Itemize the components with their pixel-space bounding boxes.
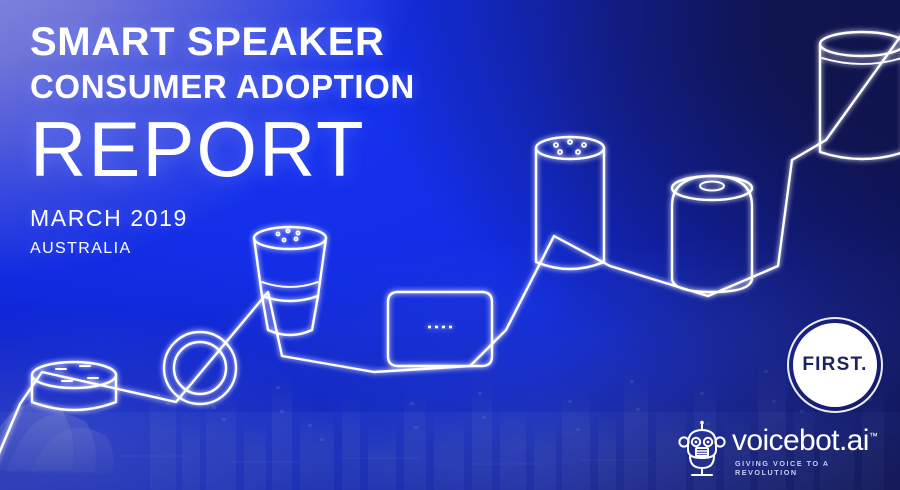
title-line-2: CONSUMER ADOPTION	[30, 70, 460, 103]
first-badge-disc: FIRST.	[793, 323, 877, 407]
title-line-1: SMART SPEAKER	[30, 22, 460, 62]
logo-trademark: ™	[869, 431, 878, 441]
report-date: MARCH 2019	[30, 205, 460, 232]
tall-cylinder-speaker	[820, 32, 900, 159]
first-badge-label: FIRST.	[802, 354, 867, 376]
title-block: SMART SPEAKER CONSUMER ADOPTION REPORT M…	[30, 22, 460, 258]
logo-name-text: voicebot.ai	[732, 424, 869, 457]
homepod-speaker	[672, 176, 752, 292]
echo-spot-ring	[164, 332, 236, 404]
logo-name: voicebot.ai™	[732, 426, 880, 456]
first-badge[interactable]: FIRST.	[787, 317, 883, 413]
echo-show-speaker	[388, 292, 492, 366]
title-line-3: REPORT	[30, 111, 460, 187]
robot-microphone-icon	[676, 420, 728, 478]
report-cover: SMART SPEAKER CONSUMER ADOPTION REPORT M…	[0, 0, 900, 490]
report-country: AUSTRALIA	[30, 240, 460, 258]
logo-wordmark: voicebot.ai™ GIVING VOICE TO A REVOLUTIO…	[732, 426, 880, 477]
voicebot-logo[interactable]: voicebot.ai™ GIVING VOICE TO A REVOLUTIO…	[676, 418, 880, 480]
logo-tagline: GIVING VOICE TO A REVOLUTION	[735, 459, 880, 477]
